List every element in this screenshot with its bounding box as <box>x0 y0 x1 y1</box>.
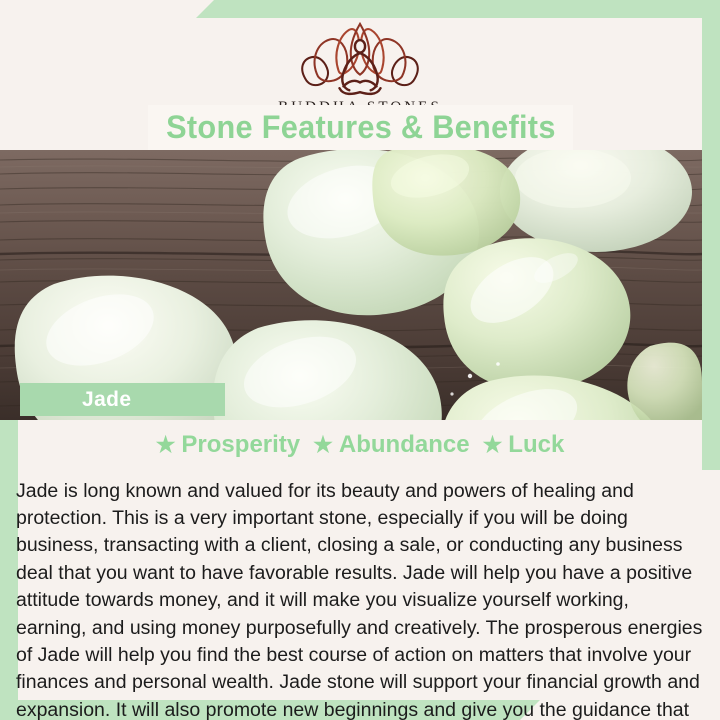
stone-info-card: BUDDHA STONES Stone Features & Benefits … <box>0 0 720 720</box>
star-icon: ★ <box>313 434 333 456</box>
benefit-item-luck: ★ Luck <box>483 431 565 459</box>
benefit-item-prosperity: ★ Prosperity <box>156 431 300 459</box>
benefit-label: Luck <box>508 431 564 459</box>
stone-description: Jade is long known and valued for its be… <box>16 478 705 720</box>
frame-band-top <box>196 0 720 18</box>
benefit-label: Abundance <box>339 431 470 459</box>
jade-stones-photo <box>0 150 702 420</box>
star-icon: ★ <box>156 434 176 456</box>
stone-name-text: Jade <box>20 388 131 412</box>
page-title-text: Stone Features & Benefits <box>166 109 556 146</box>
benefit-label: Prosperity <box>181 431 300 459</box>
benefit-item-abundance: ★ Abundance <box>313 431 469 459</box>
page-title: Stone Features & Benefits <box>148 105 573 150</box>
benefits-list: ★ Prosperity ★ Abundance ★ Luck <box>18 428 702 462</box>
stone-name-label: Jade <box>20 383 225 416</box>
jade-stones-illustration <box>0 150 702 420</box>
frame-band-right <box>702 0 720 470</box>
star-icon: ★ <box>483 434 503 456</box>
lotus-buddha-icon <box>285 20 435 98</box>
